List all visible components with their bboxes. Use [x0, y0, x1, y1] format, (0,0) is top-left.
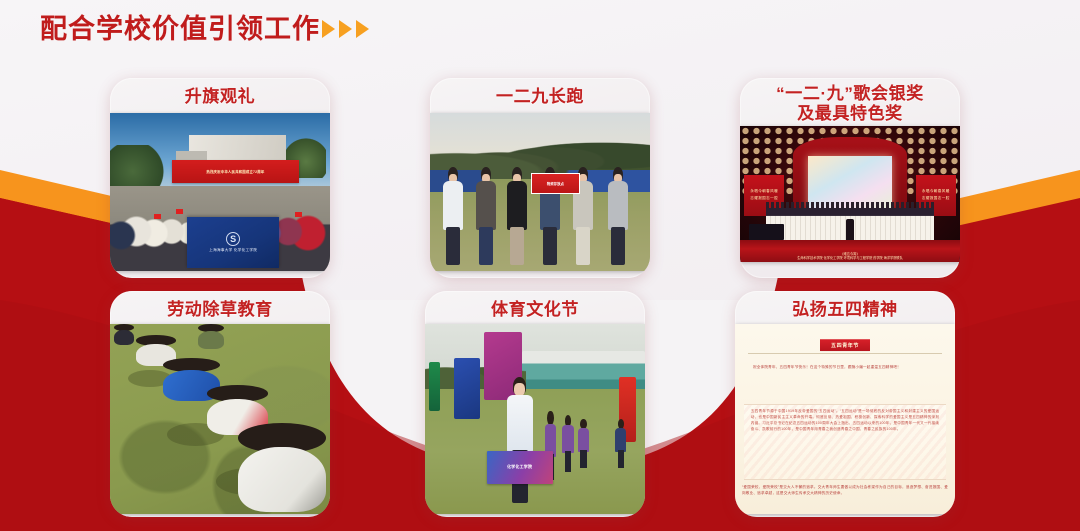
photo-red-banner-text: 热烈庆祝中华人民共和国成立72周年: [206, 169, 264, 174]
triangle-right-icon: [339, 20, 352, 38]
legs-shape: [618, 450, 624, 469]
photo-blue-banner-text: 上海海事大学 化学化工学院: [209, 248, 257, 253]
body-shape: [476, 181, 495, 230]
body-shape: [507, 181, 526, 230]
sports-culture-festival-photo: 化学化工学院: [425, 324, 645, 514]
card-title-line-2: 及最具特色奖: [776, 104, 924, 124]
photo-supply-sign: 物资存放点: [531, 173, 579, 194]
card-flag-raising-ceremony[interactable]: 升旗观礼 热烈庆祝中华人民共和国成立72周年 S 上海海事大学 化学化工学院: [110, 78, 330, 278]
header-arrows: [322, 20, 369, 38]
body-shape: [114, 330, 134, 345]
triangle-right-icon: [356, 20, 369, 38]
photo-college-placard-text: 化学化工学院: [507, 464, 532, 470]
body-shape: [562, 425, 573, 452]
photo-flag-blue: [454, 358, 480, 419]
small-flag-icon: [295, 212, 302, 217]
photo-student: [606, 167, 630, 265]
photo-supply-sign-text: 物资存放点: [547, 181, 564, 186]
card-title: 弘扬五四精神: [792, 291, 898, 320]
article-body-block: 五四青年节源于中国1919年反帝爱国的“五四运动”。“五四运动”是一场彻底的反对…: [744, 404, 946, 480]
photo-student-far: [198, 324, 224, 349]
card-title: 劳动除草教育: [167, 291, 273, 320]
article-divider: [748, 353, 942, 354]
triangle-right-icon: [322, 20, 335, 38]
body-shape: [198, 331, 224, 349]
photo-tree-left: [110, 145, 167, 189]
card-sports-culture-festival[interactable]: 体育文化节: [425, 291, 645, 517]
body-shape: [615, 428, 626, 452]
photo-college-placard: 化学化工学院: [487, 451, 553, 483]
photo-caption: 《难忘今宵》 生命科学技术学院 化学化工学院 环境科学与工程学院 药学院 海洋学…: [740, 252, 960, 261]
legs-shape: [543, 227, 557, 264]
card-long-distance-run[interactable]: 一二九长跑: [430, 78, 650, 278]
photo-red-banner: 热烈庆祝中华人民共和国成立72周年: [172, 160, 300, 182]
card-title: 一二九长跑: [496, 78, 584, 107]
photo-piano: [749, 224, 784, 240]
photo-student: [474, 167, 498, 265]
page-title: 配合学校价值引领工作: [40, 12, 320, 46]
card-title: “一二·九”歌会银奖 及最具特色奖: [776, 78, 924, 124]
legs-shape: [611, 227, 625, 264]
photo-left-banner-line-1: 永唱今朝春风暖: [750, 189, 778, 194]
card-title: 升旗观礼: [185, 78, 255, 107]
photo-left-banner-line-2: 志耀报国志一腔: [750, 196, 778, 201]
body-shape: [578, 428, 589, 452]
may-fourth-spirit-article: 五四青年节 祝全体院青年、五四青年节快乐！在这个特殊的节日里，跟随小编一起重温五…: [735, 324, 955, 514]
body-shape: [238, 447, 326, 512]
photo-student: [505, 167, 529, 265]
legs-shape: [580, 450, 586, 469]
legs-shape: [565, 451, 571, 473]
page-header: 配合学校价值引领工作: [40, 9, 369, 49]
photo-marcher: [561, 415, 574, 472]
long-distance-run-photo: 物资存放点: [430, 113, 650, 271]
article-quote-text: “爱国荣校，爱院荣校”是交大人不懈的追求。交大青年师生要做以成为社会栋梁作为自己…: [735, 484, 955, 496]
chorus-competition-photo: 永唱今朝春风暖 志耀报国志一腔 永唱今朝春风暖 志耀报国志一腔 《难忘今宵》 生…: [740, 126, 960, 262]
photo-caption-text: 生命科学技术学院 化学化工学院 环境科学与工程学院 药学院 海洋学院联队: [797, 256, 903, 260]
legs-shape: [576, 227, 590, 264]
photo-student-with-placard: [504, 377, 535, 502]
photo-student-far: [114, 324, 134, 345]
article-intro-text: 祝全体院青年、五四青年节快乐！在这个特殊的节日里，跟随小编一起重温五四精神吧！: [735, 364, 955, 370]
article-body-text: 五四青年节源于中国1919年反帝爱国的“五四运动”。“五四运动”是一场彻底的反对…: [744, 408, 946, 432]
body-shape: [443, 181, 462, 230]
card-weeding-labor-education[interactable]: 劳动除草教育: [110, 291, 330, 517]
photo-student-white: [238, 423, 326, 510]
body-shape: [507, 395, 533, 453]
card-title-line-1: “一二·九”歌会银奖: [776, 84, 924, 104]
legs-shape: [479, 227, 493, 264]
flag-raising-ceremony-photo: 热烈庆祝中华人民共和国成立72周年 S 上海海事大学 化学化工学院: [110, 113, 330, 271]
card-chorus-award[interactable]: “一二·九”歌会银奖 及最具特色奖 永唱今朝春风暖 志耀报国志一腔 永唱今朝春风…: [740, 78, 960, 278]
photo-marcher: [614, 419, 627, 468]
card-title: 体育文化节: [491, 291, 579, 320]
small-flag-icon: [154, 214, 161, 219]
photo-student: [441, 167, 465, 265]
article-intro: 祝全体院青年、五四青年节快乐！在这个特殊的节日里，跟随小编一起重温五四精神吧！: [735, 364, 955, 370]
body-shape: [608, 181, 627, 230]
photo-flag-green: [429, 362, 440, 411]
article-quote: “爱国荣校，爱院荣校”是交大人不懈的追求。交大青年师生要做以成为社会栋梁作为自己…: [735, 484, 955, 496]
card-may-fourth-spirit[interactable]: 弘扬五四精神 五四青年节 祝全体院青年、五四青年节快乐！在这个特殊的节日里，跟随…: [735, 291, 955, 517]
photo-blue-banner: S 上海海事大学 化学化工学院: [187, 217, 279, 268]
legs-shape: [446, 227, 460, 264]
photo-right-banner-line-2: 志耀报国志一腔: [922, 196, 950, 201]
article-ribbon-badge: 五四青年节: [820, 339, 870, 351]
weeding-labor-education-photo: [110, 324, 330, 514]
university-logo-icon: S: [226, 232, 240, 246]
small-flag-icon: [176, 209, 183, 214]
legs-shape: [510, 227, 524, 264]
photo-right-banner-line-1: 永唱今朝春风暖: [922, 189, 950, 194]
photo-marcher: [577, 419, 590, 468]
